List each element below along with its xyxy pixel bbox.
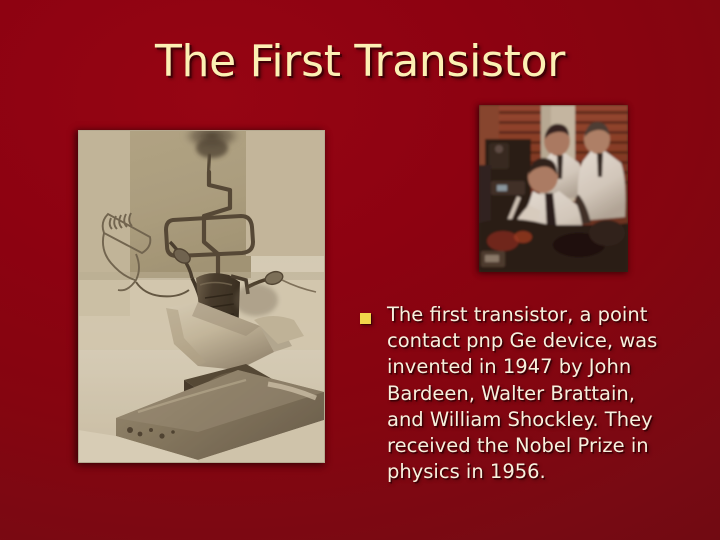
body-content: The first transistor, a point contact pn…	[360, 302, 660, 485]
list-item: The first transistor, a point contact pn…	[360, 302, 660, 485]
bardeen-brattain-shockley-photograph	[479, 105, 628, 272]
first-transistor-photograph	[78, 130, 325, 463]
slide-canvas: The First Transistor	[0, 0, 720, 540]
page-title: The First Transistor	[0, 36, 720, 88]
list-item-label: The first transistor, a point contact pn…	[387, 302, 660, 485]
square-bullet-icon	[360, 313, 371, 324]
